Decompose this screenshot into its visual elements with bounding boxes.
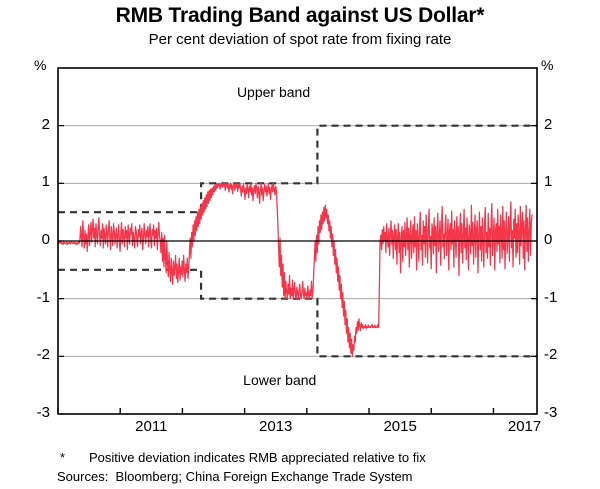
footnote-star-text: Positive deviation indicates RMB appreci… (89, 450, 426, 465)
y-tick-label-right: 0 (544, 231, 572, 248)
chart-figure: RMB Trading Band against US Dollar* Per … (0, 0, 600, 489)
x-tick-label: 2013 (241, 418, 311, 435)
y-tick-label-left: 2 (22, 116, 50, 133)
annotation-upper-band: Upper band (237, 84, 310, 100)
footnote-sources: Sources: Bloomberg; China Foreign Exchan… (57, 469, 413, 484)
y-tick-label-left: -1 (22, 289, 50, 306)
y-tick-label-left: -2 (22, 346, 50, 363)
x-tick-label: 2015 (365, 418, 435, 435)
annotation-lower-band: Lower band (243, 372, 316, 388)
band-line-lower-band (58, 270, 537, 357)
plot-canvas (0, 0, 600, 489)
y-tick-label-left: 0 (22, 231, 50, 248)
x-tick-label: 2011 (116, 418, 186, 435)
series-line-spot-deviation (58, 183, 532, 356)
x-tick-label: 2017 (490, 418, 560, 435)
y-tick-label-right: -2 (544, 346, 572, 363)
band-line-upper-band (58, 126, 537, 213)
y-tick-label-right: 1 (544, 173, 572, 190)
footnote-star-marker: * (60, 450, 65, 465)
y-tick-label-left: -3 (22, 404, 50, 421)
y-tick-label-right: -1 (544, 289, 572, 306)
y-tick-label-left: 1 (22, 173, 50, 190)
y-tick-label-right: 2 (544, 116, 572, 133)
